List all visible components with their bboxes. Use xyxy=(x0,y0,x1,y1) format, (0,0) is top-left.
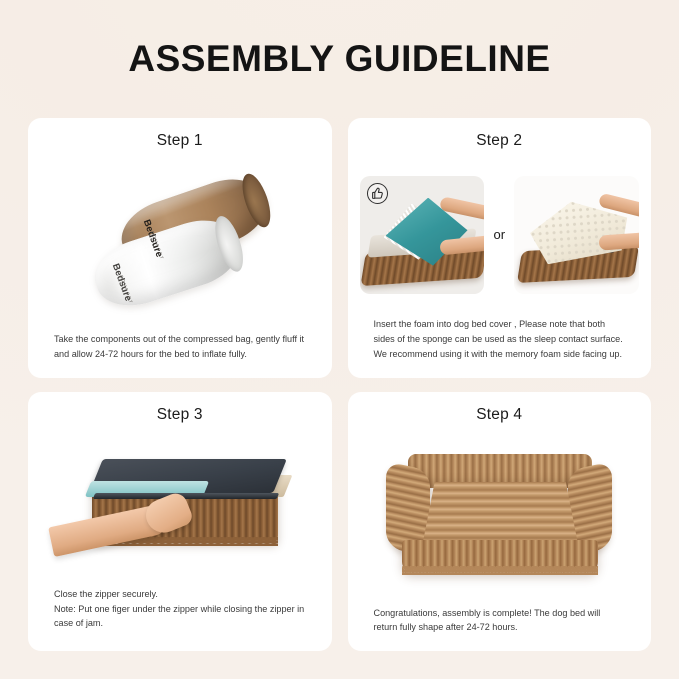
step-2-caption: Insert the foam into dog bed cover , Ple… xyxy=(348,317,652,377)
bed-front-ribs xyxy=(402,566,598,575)
step-4-title: Step 4 xyxy=(348,406,652,424)
foam-insert-illustration: or xyxy=(348,176,652,294)
step-card-3: Step 3 Close the zipper securely. Note: … xyxy=(28,392,332,652)
step-4-illustration xyxy=(348,426,652,606)
memory-foam-panel xyxy=(514,176,639,294)
step-4-caption: Congratulations, assembly is complete! T… xyxy=(348,606,652,651)
step-1-illustration: Bedsure COMFORT Bedsure COMFORT xyxy=(28,152,332,332)
step-card-1: Step 1 Bedsure COMFORT Bedsure COMFORT T… xyxy=(28,118,332,378)
bed-sleep-surface xyxy=(422,482,578,546)
or-separator-label: or xyxy=(489,227,509,242)
assembly-guideline-page: ASSEMBLY GUIDELINE Step 1 Bedsure COMFOR… xyxy=(0,0,679,679)
step-3-title: Step 3 xyxy=(28,406,332,424)
compressed-bags-illustration: Bedsure COMFORT Bedsure COMFORT xyxy=(85,177,275,307)
thumbs-up-icon xyxy=(367,183,388,204)
step-3-caption: Close the zipper securely. Note: Put one… xyxy=(28,587,332,651)
page-title-container: ASSEMBLY GUIDELINE xyxy=(0,0,679,118)
steps-grid: Step 1 Bedsure COMFORT Bedsure COMFORT T… xyxy=(0,118,679,679)
step-1-caption: Take the components out of the compresse… xyxy=(28,332,332,377)
step-2-title: Step 2 xyxy=(348,132,652,150)
step-2-illustration: or xyxy=(348,152,652,317)
finished-dog-bed-illustration xyxy=(380,448,618,584)
hand-lower-right xyxy=(599,232,639,250)
page-title: ASSEMBLY GUIDELINE xyxy=(128,38,550,80)
step-3-illustration xyxy=(28,426,332,587)
step-1-title: Step 1 xyxy=(28,132,332,150)
zipper-strip xyxy=(93,493,279,499)
step-card-4: Step 4 Congratulations, assembly is comp… xyxy=(348,392,652,652)
teal-foam-panel xyxy=(360,176,485,294)
step-card-2: Step 2 xyxy=(348,118,652,378)
zipper-closing-illustration xyxy=(54,441,306,571)
